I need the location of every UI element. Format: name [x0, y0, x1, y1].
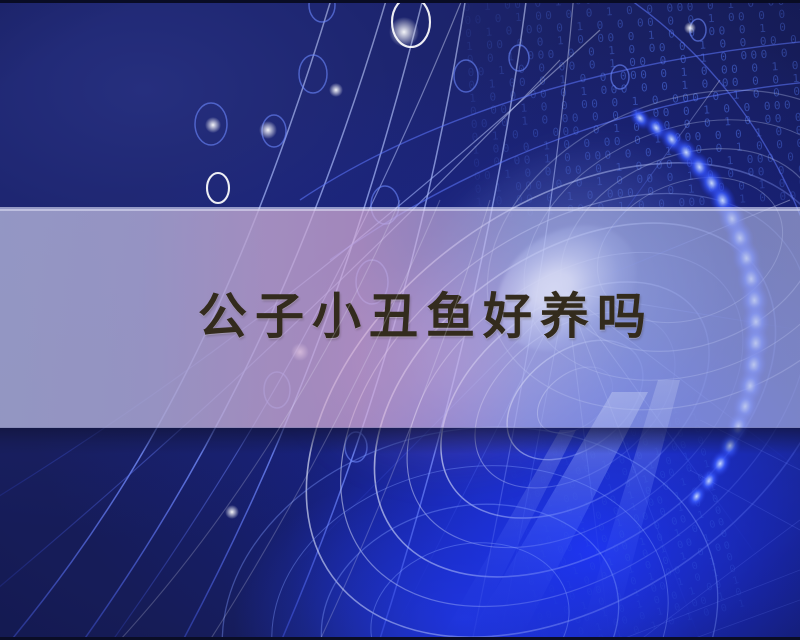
banner-image: 0 1 00 0 1 000 0 0 1 0 00 0 1 0 0 00 00 … [0, 0, 800, 640]
top-border [0, 0, 800, 3]
foreground-line-art [0, 0, 800, 640]
